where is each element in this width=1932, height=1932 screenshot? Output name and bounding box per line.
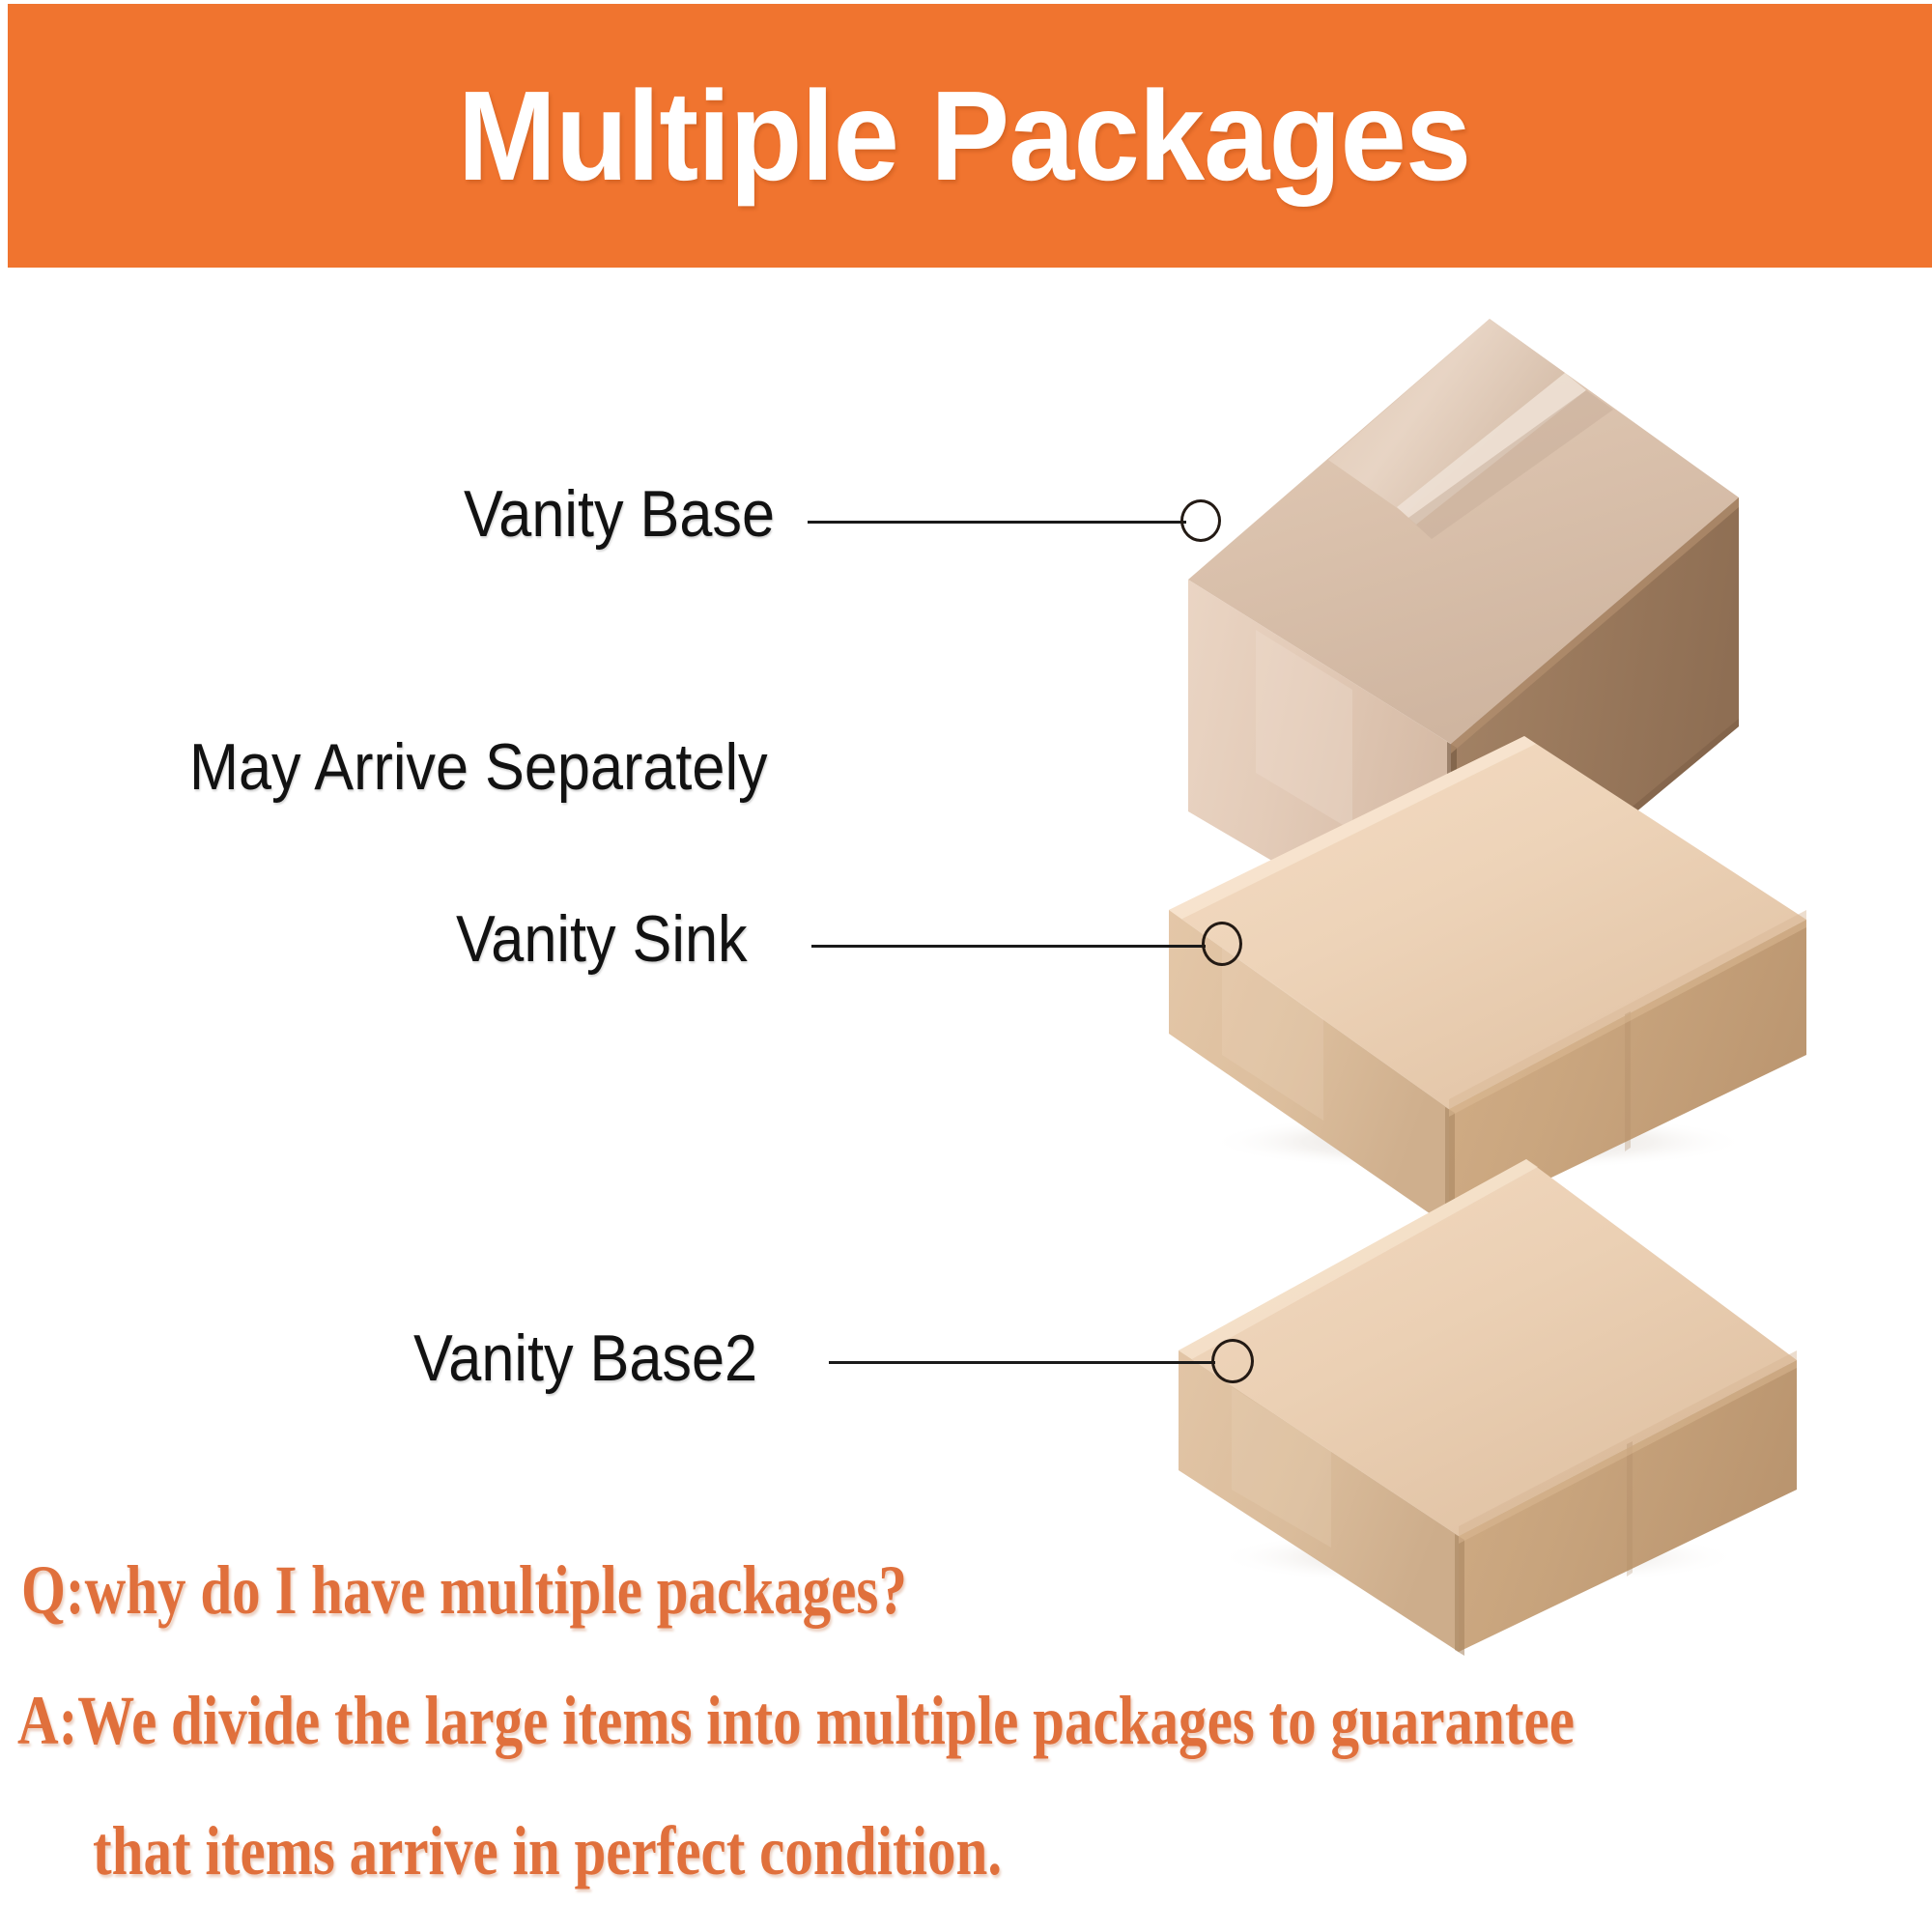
header-banner: Multiple Packages — [8, 4, 1932, 268]
leader-line-vanity-base — [808, 521, 1186, 524]
product-infographic: Multiple Packages — [0, 0, 1932, 1932]
faq-answer-line-2: that items arrive in perfect condition. — [93, 1816, 1002, 1886]
label-vanity-sink: Vanity Sink — [456, 906, 748, 972]
leader-target-circle-vanity-sink — [1202, 922, 1242, 966]
label-vanity-base2: Vanity Base2 — [413, 1325, 757, 1391]
notice-may-arrive-separately: May Arrive Separately — [189, 734, 768, 800]
leader-target-circle-vanity-base — [1180, 499, 1221, 542]
leader-line-vanity-sink — [811, 945, 1206, 948]
label-vanity-base: Vanity Base — [464, 481, 775, 547]
leader-target-circle-vanity-base2 — [1211, 1339, 1254, 1383]
faq-answer-line-1: A:We divide the large items into multipl… — [17, 1686, 1575, 1755]
leader-line-vanity-base2 — [829, 1361, 1215, 1364]
page-title: Multiple Packages — [74, 4, 1853, 268]
faq-question: Q:why do I have multiple packages? — [21, 1555, 907, 1625]
